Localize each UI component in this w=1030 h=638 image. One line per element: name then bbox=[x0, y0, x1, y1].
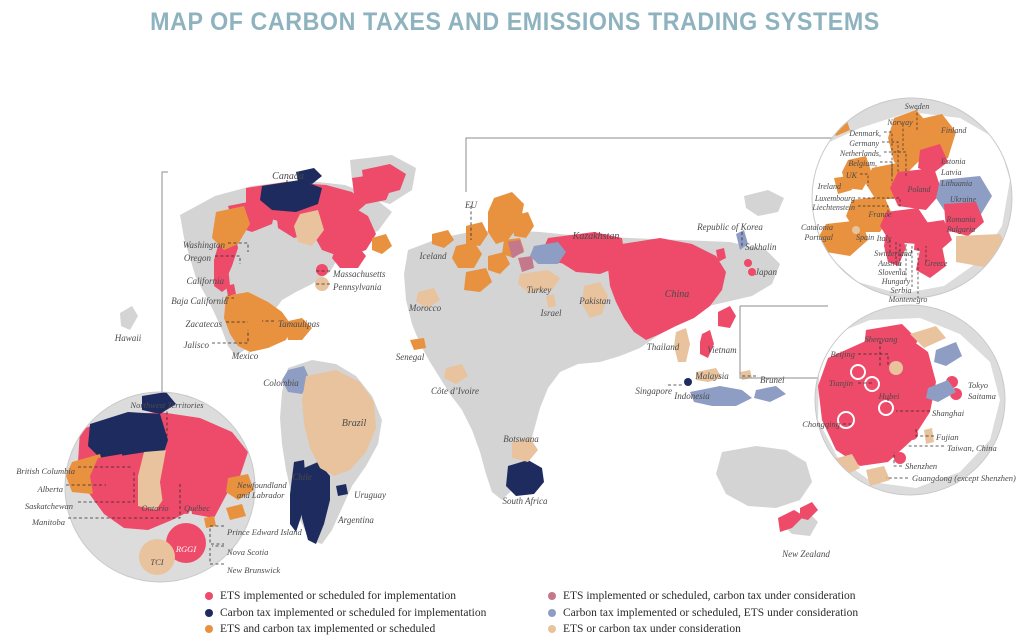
legend-swatch-ets_tax_considered bbox=[548, 592, 556, 600]
map-label-chile: Chile bbox=[292, 473, 312, 483]
map-label-vietnam: Vietnam bbox=[707, 346, 736, 356]
canada-label-newfoundland-labrador-2: and Labrador bbox=[237, 491, 284, 500]
europe-label-greece: Greece bbox=[925, 260, 948, 269]
europe-label-romania: Romania bbox=[947, 216, 976, 225]
canada-label-manitoba: Manitoba bbox=[32, 518, 65, 527]
asia-label-shenzhen: Shenzhen bbox=[905, 462, 937, 471]
canada-label-alberta: Alberta bbox=[38, 485, 64, 494]
asia-label-fujian: Fujian bbox=[936, 433, 959, 442]
map-label-massachusetts: Massachusetts bbox=[333, 270, 386, 280]
canada-label-quebec: Québec bbox=[184, 504, 210, 513]
map-label-canada: Canada bbox=[272, 172, 304, 183]
europe-label-estonia: Estonia bbox=[941, 158, 965, 167]
map-label-turkey: Turkey bbox=[527, 286, 552, 296]
europe-label-france: France bbox=[868, 211, 891, 220]
legend-swatch-tax_ets_considered bbox=[548, 609, 556, 617]
map-canvas: MAP OF CARBON TAXES AND EMISSIONS TRADIN… bbox=[0, 0, 1030, 638]
map-label-botswana: Botswana bbox=[503, 435, 539, 445]
europe-label-sweden: Sweden bbox=[905, 103, 929, 112]
asia-label-saitama: Saitama bbox=[968, 392, 996, 401]
europe-label-italy: Italy bbox=[877, 235, 892, 244]
map-label-baja-california: Baja California bbox=[171, 297, 228, 307]
map-label-eu: EU bbox=[465, 201, 477, 211]
map-label-israel: Israel bbox=[541, 309, 562, 319]
europe-label-lithuania: Lithuania bbox=[941, 180, 972, 189]
europe-label-bulgaria: Bulgaria bbox=[947, 226, 975, 235]
map-label-washington: Washington bbox=[183, 241, 225, 251]
map-label-mexico: Mexico bbox=[232, 352, 258, 362]
europe-label-belgium: Belgium, bbox=[848, 160, 877, 169]
map-label-argentina: Argentina bbox=[338, 516, 374, 526]
europe-label-denmark: Denmark, bbox=[849, 130, 881, 139]
legend-label: ETS and carbon tax implemented or schedu… bbox=[220, 623, 435, 635]
map-label-tamaulipas: Tamaulipas bbox=[278, 320, 320, 330]
map-label-senegal: Senegal bbox=[396, 353, 425, 363]
europe-label-norway: Norway bbox=[887, 119, 912, 128]
europe-label-portugal: Portugal bbox=[805, 234, 833, 243]
asia-label-hubei: Hubei bbox=[879, 392, 900, 401]
legend-label: ETS or carbon tax under consideration bbox=[563, 623, 741, 635]
europe-label-poland: Poland bbox=[907, 186, 930, 195]
asia-label-shanghai: Shanghai bbox=[932, 409, 964, 418]
legend-item: ETS and carbon tax implemented or schedu… bbox=[205, 621, 486, 638]
asia-label-guangdong: Guangdong (except Shenzhen) bbox=[912, 474, 1016, 483]
asia-label-tokyo: Tokyo bbox=[968, 381, 988, 390]
europe-label-netherlands: Netherlands, bbox=[840, 150, 881, 159]
europe-label-uk: UK bbox=[846, 172, 857, 181]
canada-label-nova-scotia: Nova Scotia bbox=[227, 548, 268, 557]
europe-label-finland: Finland bbox=[941, 127, 966, 136]
asia-label-chongqing: Chongqing bbox=[802, 420, 840, 429]
legend-column-right: ETS implemented or scheduled, carbon tax… bbox=[548, 588, 858, 638]
legend: ETS implemented or scheduled for impleme… bbox=[0, 588, 1030, 638]
europe-label-ireland: Ireland bbox=[818, 183, 841, 192]
canada-label-prince-edward-island: Prince Edward Island bbox=[227, 528, 302, 537]
map-label-pakistan: Pakistan bbox=[579, 297, 611, 307]
asia-label-shenyang: Shenyang bbox=[864, 335, 897, 344]
map-label-jalisco: Jalisco bbox=[184, 341, 210, 351]
map-label-iceland: Iceland bbox=[420, 252, 447, 262]
canada-label-new-brunswick: New Brunswick bbox=[227, 566, 280, 575]
legend-label: ETS implemented or scheduled for impleme… bbox=[220, 590, 456, 602]
map-label-indonesia: Indonesia bbox=[674, 392, 710, 402]
map-label-brazil: Brazil bbox=[342, 419, 366, 430]
europe-label-switzerland: Switzerland bbox=[874, 250, 912, 259]
map-label-kazakhstan: Kazakhstan bbox=[573, 232, 620, 243]
legend-swatch-under_consideration bbox=[548, 625, 556, 633]
map-label-republic-of-korea: Republic of Korea bbox=[697, 223, 763, 233]
canada-label-newfoundland-labrador-1: Newfoundland bbox=[237, 481, 287, 490]
europe-label-catalonia: Catalonia bbox=[801, 224, 833, 233]
canada-label-saskatchewan: Saskatchewan bbox=[25, 502, 73, 511]
europe-label-liechtenstein: Liechtenstein bbox=[812, 204, 855, 213]
legend-label: Carbon tax implemented or scheduled for … bbox=[220, 607, 486, 619]
map-label-zacatecas: Zacatecas bbox=[186, 320, 223, 330]
legend-swatch-carbon_tax bbox=[205, 609, 213, 617]
map-label-japan: Japan bbox=[755, 268, 777, 278]
map-label-colombia: Colombia bbox=[263, 379, 299, 389]
map-label-malaysia: Malaysia bbox=[695, 372, 729, 382]
asia-label-beijing: Beijing bbox=[830, 350, 855, 359]
europe-label-germany: Germany bbox=[849, 140, 879, 149]
europe-label-latvia: Latvia bbox=[941, 169, 961, 178]
map-label-sakhalin: Sakhalin bbox=[745, 243, 777, 253]
canada-label-rggi: RGGI bbox=[176, 545, 196, 554]
europe-label-montenegro: Montenegro bbox=[889, 296, 928, 305]
asia-label-taiwan-china: Taiwan, China bbox=[947, 444, 997, 453]
canada-label-northwest-territories: Northwest Territories bbox=[130, 401, 203, 410]
map-label-hawaii: Hawaii bbox=[115, 334, 142, 344]
map-label-oregon: Oregon bbox=[184, 254, 211, 264]
canada-label-tci: TCI bbox=[150, 558, 163, 567]
map-label-pennsylvania: Pennsylvania bbox=[333, 283, 382, 293]
legend-item: ETS or carbon tax under consideration bbox=[548, 621, 858, 638]
map-label-new-zealand: New Zealand bbox=[782, 550, 830, 560]
legend-item: Carbon tax implemented or scheduled, ETS… bbox=[548, 605, 858, 622]
world-map-graphic bbox=[0, 0, 1030, 638]
legend-column-left: ETS implemented or scheduled for impleme… bbox=[205, 588, 486, 638]
legend-item: ETS implemented or scheduled, carbon tax… bbox=[548, 588, 858, 605]
map-label-china: China bbox=[665, 290, 689, 301]
asia-label-tianjin: Tianjin bbox=[829, 379, 853, 388]
map-label-morocco: Morocco bbox=[409, 304, 441, 314]
map-label-california: California bbox=[186, 277, 224, 287]
legend-label: ETS implemented or scheduled, carbon tax… bbox=[563, 590, 856, 602]
map-label-uruguay: Uruguay bbox=[354, 491, 386, 501]
map-label-brunei: Brunei bbox=[760, 376, 785, 386]
map-label-south-africa: South Africa bbox=[502, 497, 547, 507]
legend-swatch-ets bbox=[205, 592, 213, 600]
europe-label-ukraine: Ukraine bbox=[950, 196, 976, 205]
legend-swatch-both bbox=[205, 625, 213, 633]
map-label-singapore: Singapore bbox=[635, 387, 672, 397]
legend-item: Carbon tax implemented or scheduled for … bbox=[205, 605, 486, 622]
canada-label-ontario: Ontario bbox=[142, 504, 169, 513]
legend-item: ETS implemented or scheduled for impleme… bbox=[205, 588, 486, 605]
map-label-thailand: Thailand bbox=[647, 343, 680, 353]
canada-label-british-columbia: British Columbia bbox=[16, 467, 75, 476]
map-label-cote-divoire: Côte d’Ivoire bbox=[431, 387, 479, 397]
legend-label: Carbon tax implemented or scheduled, ETS… bbox=[563, 607, 858, 619]
europe-label-spain: Spain bbox=[856, 234, 874, 243]
